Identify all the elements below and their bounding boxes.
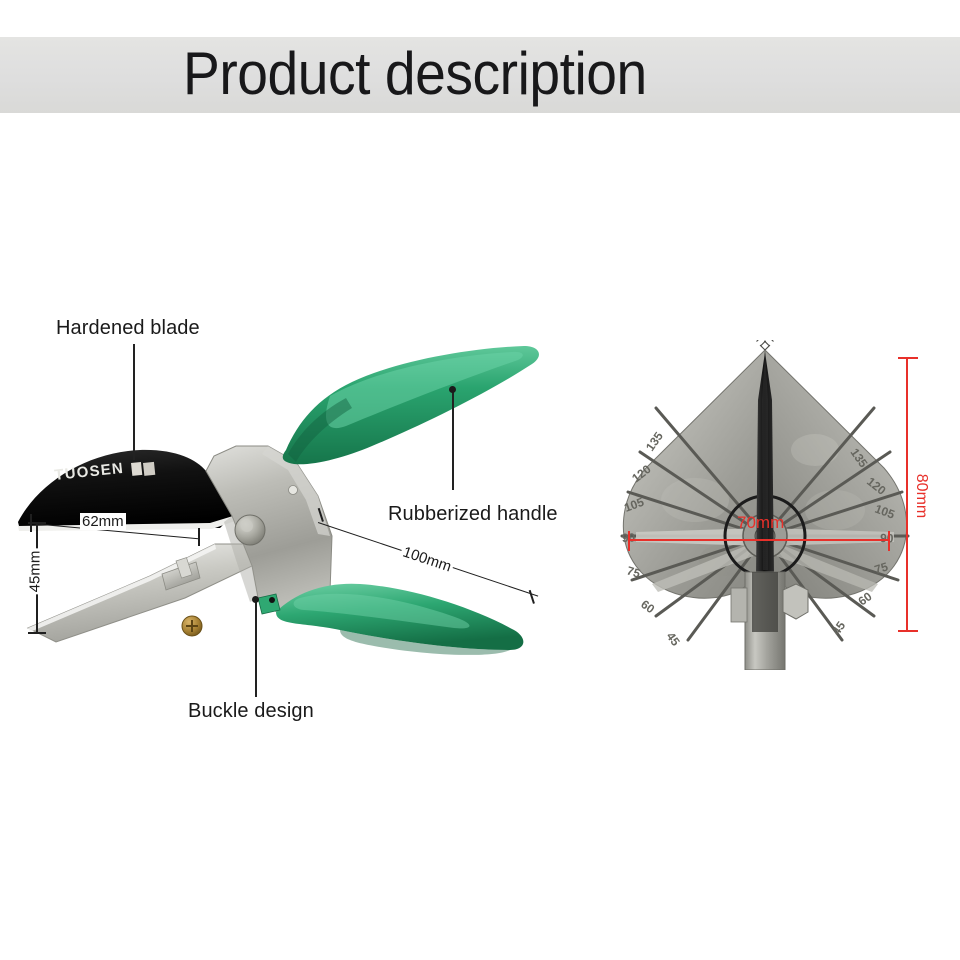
dimension-tick-45mm-top [28,522,46,524]
dimension-label-80mm: 80mm [912,472,930,520]
upper-rubberized-handle [283,346,539,464]
dimension-label-45mm: 45mm [26,549,43,595]
page-title: Product description [183,36,647,112]
lower-blade [28,544,252,642]
dimension-tick-70mm-right [888,531,890,551]
leader-dot-buckle-design [252,596,259,603]
leader-line-hardened-blade [133,344,135,460]
dimension-line-80mm [906,357,908,632]
lower-rubberized-handle [276,584,523,655]
edge-tick-marks [650,340,879,350]
dimension-tick-62mm-right [198,528,200,546]
annotation-rubberized-handle: Rubberized handle [388,503,558,526]
svg-text:135: 135 [643,429,666,454]
dimension-label-62mm: 62mm [80,513,126,530]
annotation-buckle-design: Buckle design [188,700,314,723]
dimension-label-70mm: 70mm [735,513,786,533]
buckle-latch [258,594,280,614]
hardened-blade: TUOSEN [18,450,235,531]
dimension-tick-80mm-top [898,357,918,359]
svg-text:45: 45 [829,618,848,637]
dimension-line-70mm [628,539,890,541]
protractor-head-illustration: 135 120 105 90 75 60 45 135 120 105 90 7… [600,340,930,670]
leader-dot-rubberized-handle [449,386,456,393]
dimension-tick-70mm-left [628,531,630,551]
protractor-svg: 135 120 105 90 75 60 45 135 120 105 90 7… [600,340,930,670]
annotation-hardened-blade: Hardened blade [56,317,200,340]
dimension-tick-80mm-bottom [898,630,918,632]
svg-text:45: 45 [664,630,683,649]
leader-line-buckle-design [255,601,257,697]
leader-line-rubberized-handle [452,392,454,490]
product-description-page: Product description [0,0,960,960]
dimension-tick-45mm-bottom [28,632,46,634]
svg-text:60: 60 [638,597,657,616]
